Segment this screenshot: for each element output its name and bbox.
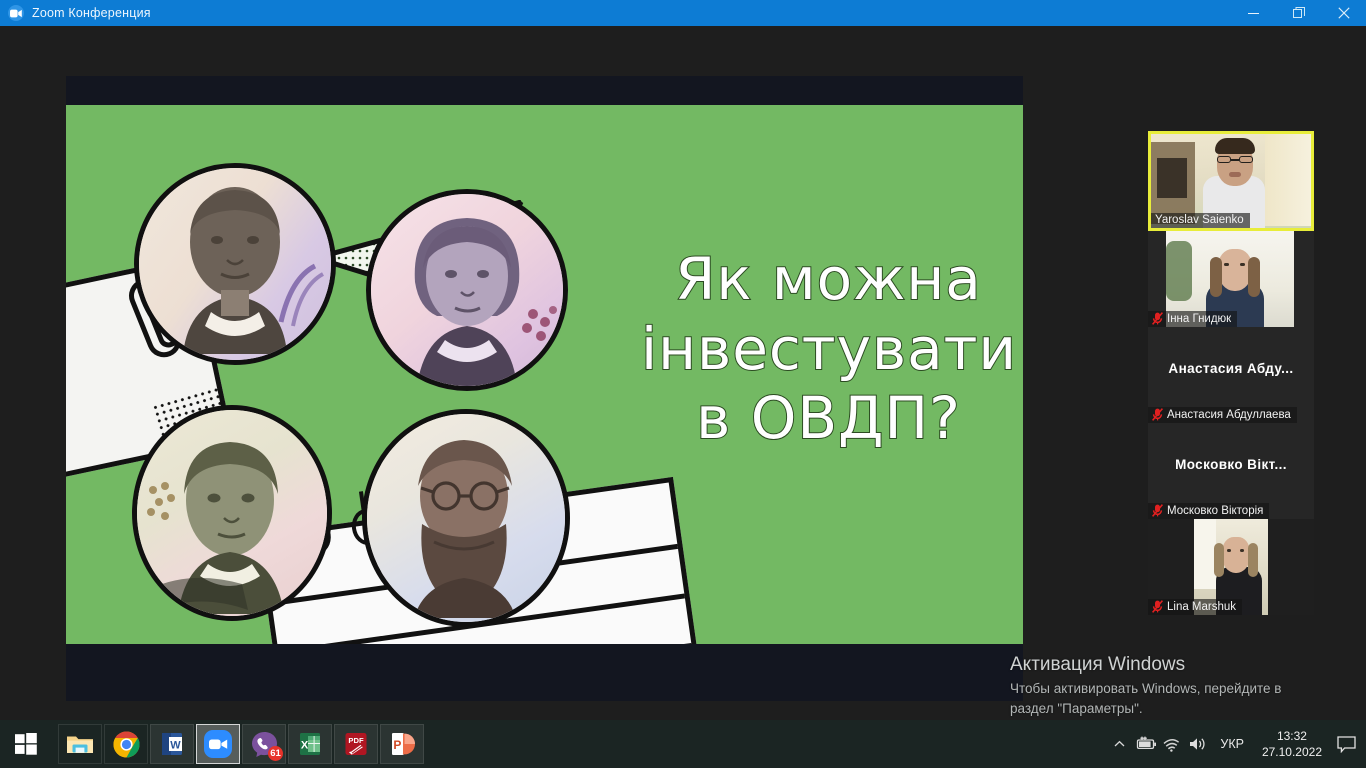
taskbar-app-zoom[interactable] xyxy=(196,724,240,764)
slide-letterbox-top xyxy=(66,76,1023,105)
watermark-line-1: Чтобы активировать Windows, перейдите в xyxy=(1010,679,1366,699)
speaker-icon[interactable] xyxy=(1184,720,1210,768)
banknote-portrait-circle-3 xyxy=(132,405,332,621)
system-tray: УКР 13:32 27.10.2022 xyxy=(1106,720,1366,768)
svg-text:PDF: PDF xyxy=(348,736,364,745)
window-controls xyxy=(1231,0,1366,26)
taskbar-app-pdf-editor[interactable]: PDF xyxy=(334,724,378,764)
slide-letterbox-bottom xyxy=(66,644,1023,701)
participant-tile-yaroslav-saienko[interactable]: Yaroslav Saienko xyxy=(1148,131,1314,231)
participant-tile-inna-hnydiuk[interactable]: Інна Гнидюк xyxy=(1148,231,1314,327)
participant-name: Інна Гнидюк xyxy=(1167,313,1231,325)
slide-title-line-2: інвестувати xyxy=(641,315,1016,385)
svg-text:P: P xyxy=(393,738,401,752)
participant-tile-anastasiya-abdullaeva[interactable]: Анастасия Абду... Анастасия Абдуллаева xyxy=(1148,327,1314,423)
action-center-icon[interactable] xyxy=(1330,720,1362,768)
participant-placeholder-name: Московко Вікт... xyxy=(1148,457,1314,472)
viber-unread-badge: 61 xyxy=(268,746,283,761)
banknote-portrait-circle-1 xyxy=(134,163,336,365)
slide-title: Як можна інвестувати в ОВДП? xyxy=(641,245,1016,454)
participant-name-bar: Lina Marshuk xyxy=(1148,599,1242,615)
taskbar-app-viber[interactable]: 61 xyxy=(242,724,286,764)
taskbar-app-list: W 61 xyxy=(58,724,424,764)
windows-start-icon[interactable] xyxy=(0,720,52,768)
window-titlebar: Zoom Конференция xyxy=(0,0,1366,26)
banknote-portrait-circle-2 xyxy=(366,189,568,391)
window-title: Zoom Конференция xyxy=(32,6,151,20)
language-indicator[interactable]: УКР xyxy=(1210,720,1254,768)
chevron-up-icon[interactable] xyxy=(1106,720,1132,768)
restore-icon[interactable] xyxy=(1276,0,1321,26)
close-icon[interactable] xyxy=(1321,0,1366,26)
taskbar-app-microsoft-excel[interactable]: X xyxy=(288,724,332,764)
participant-name-bar: Yaroslav Saienko xyxy=(1151,213,1250,228)
watermark-line-2: раздел "Параметры". xyxy=(1010,699,1366,719)
windows-activation-watermark: Активация Windows Чтобы активировать Win… xyxy=(1010,654,1366,718)
svg-text:W: W xyxy=(170,739,181,751)
taskbar-app-microsoft-powerpoint[interactable]: P xyxy=(380,724,424,764)
participant-name: Московко Вікторія xyxy=(1167,505,1263,517)
taskbar-app-microsoft-word[interactable]: W xyxy=(150,724,194,764)
participant-name-bar: Анастасия Абдуллаева xyxy=(1148,407,1297,423)
participant-placeholder-name: Анастасия Абду... xyxy=(1148,361,1314,376)
desktop-screen: Zoom Конференция xyxy=(0,0,1366,768)
zoom-camera-icon xyxy=(8,5,24,21)
participant-name: Анастасия Абдуллаева xyxy=(1167,409,1291,421)
participant-tile-lina-marshuk[interactable]: Lina Marshuk xyxy=(1148,519,1314,615)
mic-muted-icon xyxy=(1152,600,1163,613)
watermark-title: Активация Windows xyxy=(1010,654,1366,676)
participant-name: Yaroslav Saienko xyxy=(1155,214,1244,226)
clock-date: 27.10.2022 xyxy=(1262,744,1322,760)
taskbar-app-file-explorer[interactable] xyxy=(58,724,102,764)
clock-time: 13:32 xyxy=(1262,728,1322,744)
clock[interactable]: 13:32 27.10.2022 xyxy=(1254,728,1330,760)
wifi-icon[interactable] xyxy=(1158,720,1184,768)
meeting-stage: Як можна інвестувати в ОВДП? xyxy=(0,26,1366,720)
mic-muted-icon xyxy=(1152,312,1163,325)
presentation-slide: Як можна інвестувати в ОВДП? xyxy=(66,105,1023,644)
participant-tile-moskovko-viktoriia[interactable]: Московко Вікт... Московко Вікторія xyxy=(1148,423,1314,519)
mic-muted-icon xyxy=(1152,504,1163,517)
windows-taskbar: W 61 xyxy=(0,720,1366,768)
minimize-icon[interactable] xyxy=(1231,0,1276,26)
participant-name: Lina Marshuk xyxy=(1167,601,1236,613)
participant-name-bar: Московко Вікторія xyxy=(1148,503,1269,519)
participant-filmstrip: Yaroslav Saienko xyxy=(1148,131,1314,615)
participant-name-bar: Інна Гнидюк xyxy=(1148,311,1237,327)
shared-screen[interactable]: Як можна інвестувати в ОВДП? xyxy=(66,76,1023,701)
svg-text:X: X xyxy=(301,740,309,752)
mic-muted-icon xyxy=(1152,408,1163,421)
slide-title-line-1: Як можна xyxy=(641,245,1016,315)
taskbar-app-google-chrome[interactable] xyxy=(104,724,148,764)
battery-charging-icon[interactable] xyxy=(1132,720,1158,768)
banknote-portrait-circle-4 xyxy=(362,409,570,627)
slide-title-line-3: в ОВДП? xyxy=(641,384,1016,454)
